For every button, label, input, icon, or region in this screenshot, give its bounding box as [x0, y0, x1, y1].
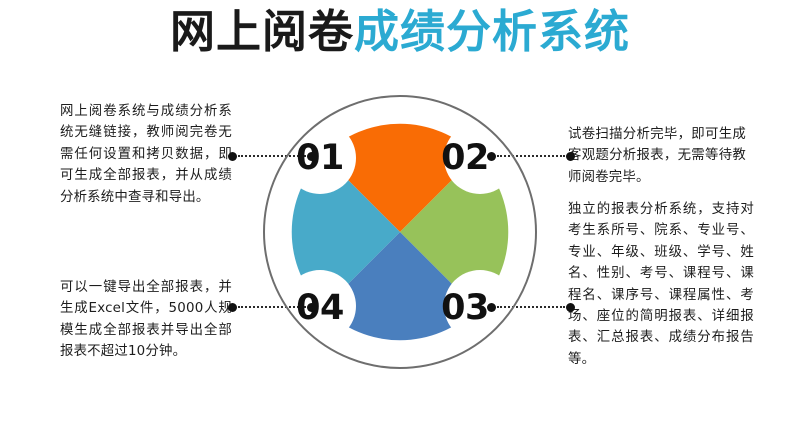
wheel-numeral-03[interactable]: 03: [434, 288, 496, 328]
callout-bottom-right: 独立的报表分析系统，支持对考生系所号、院系、专业号、专业、年级、班级、学号、姓名…: [568, 199, 754, 370]
wheel-numeral-01[interactable]: 01: [289, 138, 351, 178]
wheel-numeral-02[interactable]: 02: [434, 138, 496, 178]
connector-dot-outer: [228, 303, 237, 312]
page-title: 网上阅卷成绩分析系统: [0, 2, 800, 64]
callout-top-right: 试卷扫描分析完毕，即可生成客观题分析报表，无需等待教师阅卷完毕。: [568, 124, 746, 188]
connector-dot-outer: [566, 152, 575, 161]
wheel-diagram: [255, 87, 545, 377]
wheel-numeral-04[interactable]: 04: [289, 288, 351, 328]
infographic-page: 网上阅卷成绩分析系统 网上阅卷系统与成绩分析系统无缝链接，教师阅完卷无需任何设置…: [0, 0, 800, 443]
callout-bottom-left: 可以一键导出全部报表，并生成Excel文件，5000人规模生成全部报表并导出全部…: [60, 277, 232, 363]
connector-dot-outer: [228, 152, 237, 161]
connector-dot-outer: [566, 303, 575, 312]
page-title-dark: 网上阅卷: [170, 5, 354, 58]
callout-top-left: 网上阅卷系统与成绩分析系统无缝链接，教师阅完卷无需任何设置和拷贝数据，即可生成全…: [60, 101, 232, 208]
page-title-accent: 成绩分析系统: [354, 5, 630, 58]
